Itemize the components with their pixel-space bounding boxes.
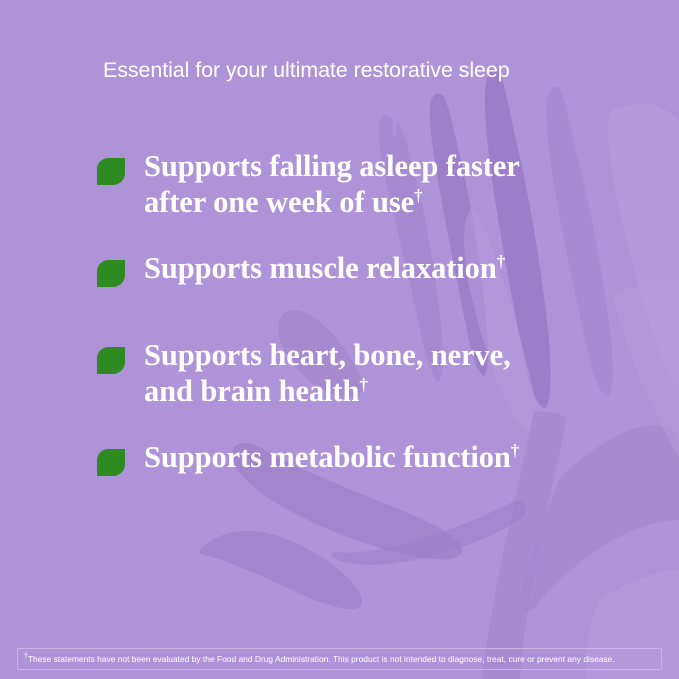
list-item-label: Supports muscle relaxation† <box>144 250 656 286</box>
list-item-label: Supports heart, bone, nerve, and brain h… <box>144 337 656 409</box>
footnote-marker: † <box>414 186 422 205</box>
fda-disclaimer-body: These statements have not been evaluated… <box>28 654 615 664</box>
claim-line-1: Supports muscle relaxation <box>144 251 497 285</box>
list-item: Supports metabolic function† <box>96 439 656 475</box>
leaf-icon <box>96 259 126 287</box>
leaf-icon <box>96 157 126 185</box>
footnote-marker: † <box>359 375 367 394</box>
list-item: Supports falling asleep faster after one… <box>96 148 656 220</box>
footnote-marker: † <box>511 441 519 460</box>
list-item-label: Supports metabolic function† <box>144 439 656 475</box>
footnote-marker: † <box>497 252 505 271</box>
claim-line-2: and brain health <box>144 374 359 408</box>
list-item-label: Supports falling asleep faster after one… <box>144 148 656 220</box>
claim-line-1: Supports heart, bone, nerve, <box>144 338 511 372</box>
page-title: Essential for your ultimate restorative … <box>103 56 643 84</box>
leaf-icon <box>96 448 126 476</box>
claim-line-1: Supports falling asleep faster <box>144 149 520 183</box>
list-item: Supports heart, bone, nerve, and brain h… <box>96 337 656 409</box>
benefit-claims-list: Supports falling asleep faster after one… <box>96 148 656 475</box>
fda-disclaimer-text: †These statements have not been evaluate… <box>24 654 615 665</box>
promo-graphic: Essential for your ultimate restorative … <box>0 0 679 679</box>
leaf-icon <box>96 346 126 374</box>
fda-disclaimer: †These statements have not been evaluate… <box>17 648 662 670</box>
claim-line-2: after one week of use <box>144 185 414 219</box>
list-item: Supports muscle relaxation† <box>96 250 656 286</box>
claim-line-1: Supports metabolic function <box>144 440 511 474</box>
